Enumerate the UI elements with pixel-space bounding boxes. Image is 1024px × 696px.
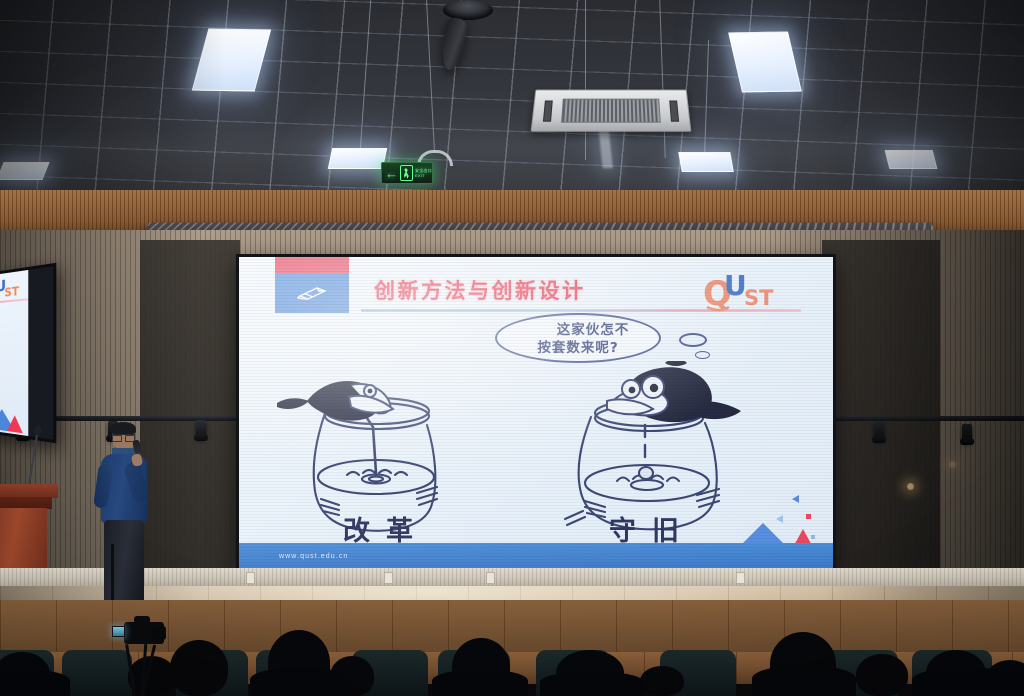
lecture-hall-scene: ← 安全出口 EXIT Q <box>0 0 1024 696</box>
decorative-triangle-marker <box>792 495 799 503</box>
glasses-icon <box>112 434 135 439</box>
floor-socket <box>486 572 495 584</box>
projection-screen: 创新方法与创新设计 Q U ST 这家伙怎不 按套数来呢? <box>236 254 836 572</box>
tripod-leg <box>125 644 137 696</box>
audience-shoulders <box>540 672 644 696</box>
slide-title: 创新方法与创新设计 <box>374 275 586 305</box>
slide-footer-bar: www.qust.edu.cn <box>239 543 833 569</box>
video-camera-on-tripod <box>112 616 172 696</box>
floor-socket <box>246 572 255 584</box>
presenter <box>92 424 154 620</box>
audience-shoulders <box>0 670 70 696</box>
speech-bubble: 这家伙怎不 按套数来呢? <box>495 313 661 363</box>
audience-shoulders <box>250 668 350 696</box>
svg-text:ST: ST <box>744 286 774 310</box>
floor-socket <box>384 572 393 584</box>
decorative-square-marker <box>806 514 811 519</box>
side-monitor-slide: Q U ST <box>0 266 53 439</box>
slide-footer-url: www.qust.edu.cn <box>279 553 348 560</box>
audience-shoulders <box>912 668 1024 696</box>
speech-bubble-line-2: 按套数来呢? <box>497 339 659 357</box>
svg-text:ST: ST <box>4 284 19 299</box>
presenter-trousers <box>104 520 144 604</box>
audience-foreground <box>0 600 1024 696</box>
audience-head <box>640 666 684 696</box>
camera-lcd-screen <box>112 626 125 637</box>
audience-head <box>856 654 908 696</box>
ceiling-shading <box>0 0 1024 196</box>
speech-bubble-tail-small <box>695 351 710 359</box>
floor-socket <box>736 572 745 584</box>
audience-shoulders <box>432 670 528 696</box>
slide-header-blue-box <box>275 273 349 313</box>
camera-lens-icon <box>152 626 166 640</box>
qust-logo-icon: Q U ST <box>703 269 789 313</box>
speech-bubble-tail-large <box>679 333 707 347</box>
side-display-monitor: Q U ST <box>0 263 56 443</box>
audience-head <box>170 640 228 696</box>
speech-bubble-line-1: 这家伙怎不 <box>497 321 659 339</box>
podium-top <box>0 484 58 498</box>
decorative-triangle-marker <box>776 515 783 523</box>
presentation-slide: 创新方法与创新设计 Q U ST 这家伙怎不 按套数来呢? <box>239 257 833 569</box>
audience-shoulders <box>752 666 856 696</box>
pencil-icon <box>295 285 329 301</box>
decorative-red-triangle <box>7 414 23 433</box>
slide-header-red-bar <box>275 257 349 273</box>
side-monitor-dark-area <box>28 266 53 439</box>
tripod-leg <box>139 645 156 696</box>
presenter-leg-seam <box>111 544 114 604</box>
ceiling: ← 安全出口 EXIT <box>0 0 1024 196</box>
